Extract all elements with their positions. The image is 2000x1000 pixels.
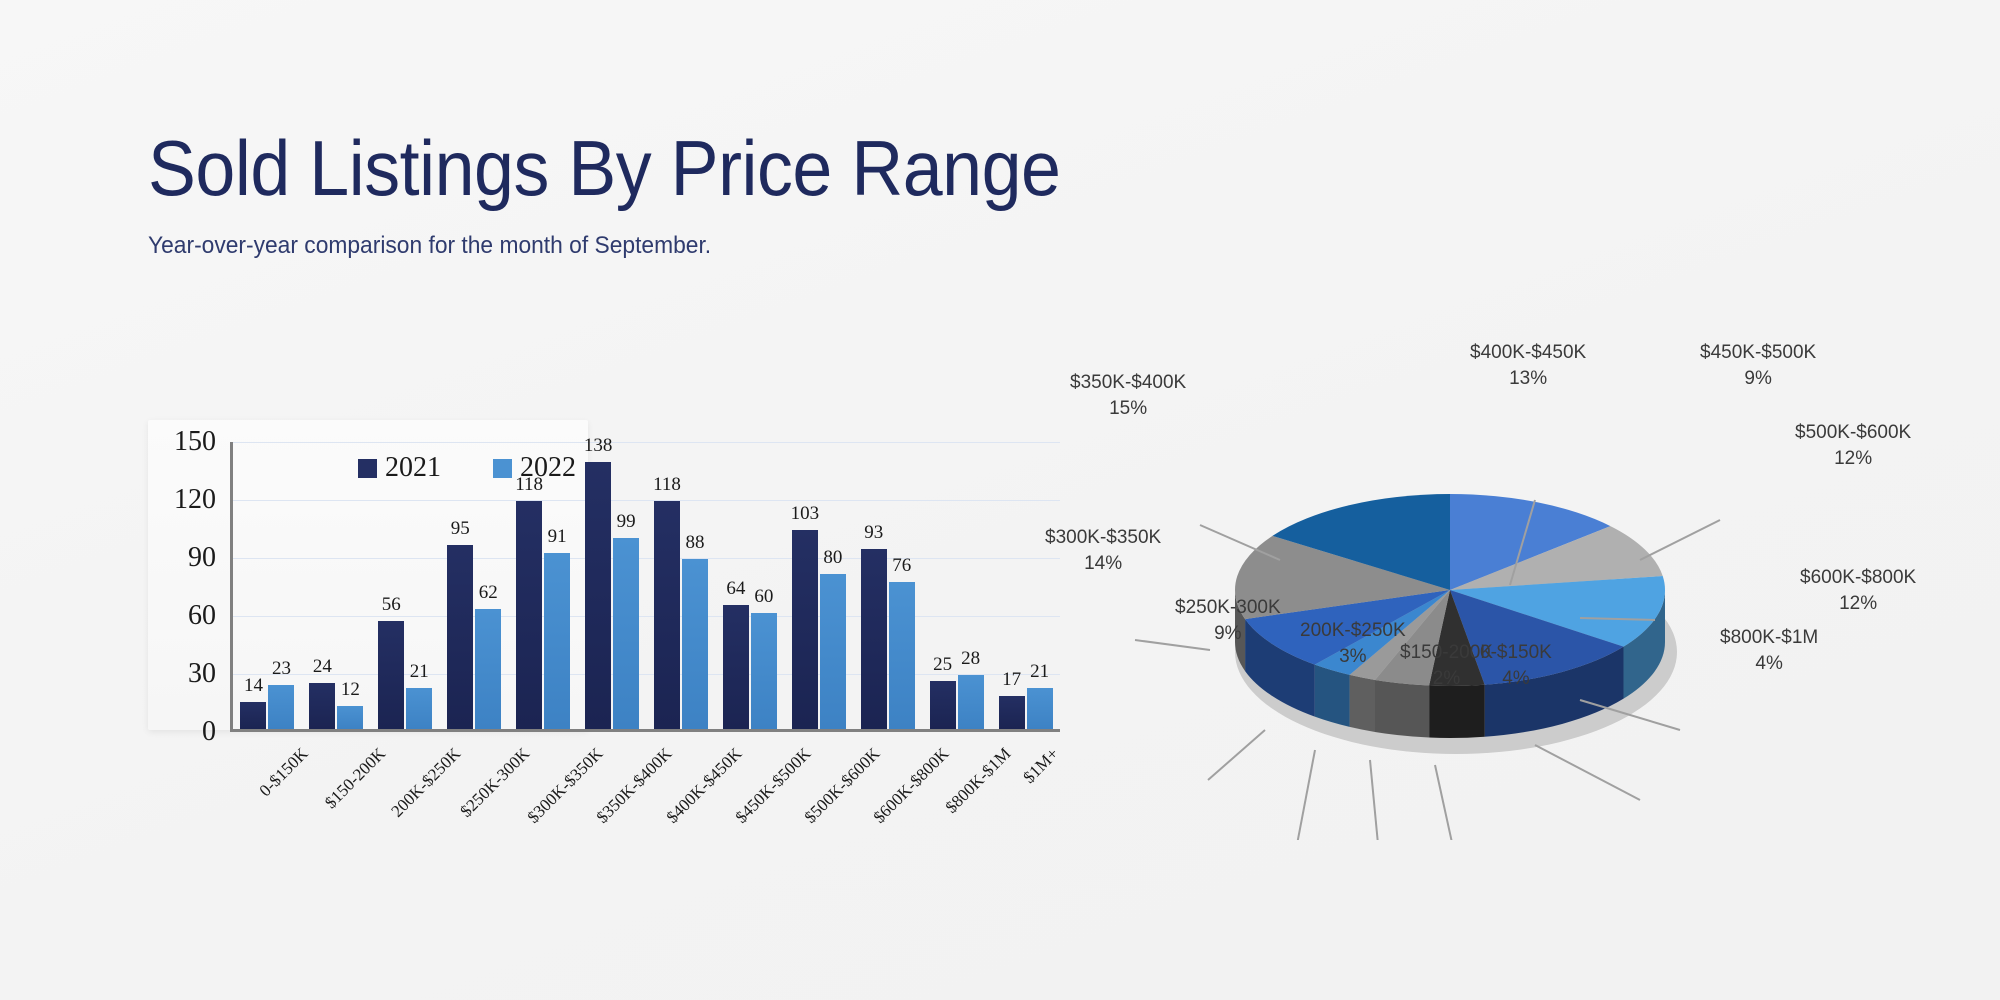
bar-groups: 1423241256219562118911389911888646010380… [233,442,1060,729]
pie-slice-label-name: $450K-$500K [1700,342,1816,363]
bar-2022[interactable]: 28 [958,675,984,729]
bar-group: 9562 [440,442,509,729]
x-axis-label-cell: $600K-$800K [856,738,925,848]
x-axis-label-cell: $1M+ [994,738,1063,848]
pie-leader-line [1370,760,1380,840]
bar-value-label: 64 [726,578,745,600]
bar-2022[interactable]: 80 [820,574,846,729]
y-axis-tick-label: 90 [188,542,216,574]
y-axis-tick-label: 120 [174,484,216,516]
bar-2021[interactable]: 25 [930,681,956,729]
pie-slice-label-percent: 4% [1720,651,1818,677]
pie-slice-label-percent: 15% [1070,396,1186,422]
pie-slice-side [1315,665,1350,727]
pie-slice-label: $600K-$800K12% [1800,565,1916,616]
bar-2021[interactable]: 138 [585,462,611,729]
bar-value-label: 56 [382,594,401,616]
pie-slice-side [1350,675,1375,732]
bar-2021[interactable]: 14 [240,702,266,729]
legend-label-2021: 2021 [385,452,441,484]
bar-value-label: 14 [244,675,263,697]
header: Sold Listings By Price Range Year-over-y… [148,128,1140,260]
x-axis-label-cell: $800K-$1M [925,738,994,848]
bar-group: 6460 [715,442,784,729]
bar-2021[interactable]: 95 [447,545,473,729]
x-axis-labels: 0-$150K$150-200K200K-$250K$250K-300K$300… [233,738,1063,848]
pie-leader-line [1535,745,1640,800]
bar-group: 1423 [233,442,302,729]
bar-group: 13899 [578,442,647,729]
bar-group: 9376 [853,442,922,729]
pie-slice-label: $350K-$400K15% [1070,370,1186,421]
bar-2022[interactable]: 12 [337,706,363,729]
bar-chart: 2021 2022 0306090120150 1423241256219562… [148,420,1088,850]
x-axis-line [230,729,1060,732]
x-axis-label-cell: $450K-$500K [717,738,786,848]
pie-slice-label-percent: 2% [1400,666,1493,692]
page-subtitle: Year-over-year comparison for the month … [148,232,1090,260]
pie-slice-label-percent: 9% [1175,621,1281,647]
pie-slice-label-name: $150-200K [1400,642,1493,663]
bar-2022[interactable]: 76 [889,582,915,729]
legend-item-2022[interactable]: 2022 [493,452,576,484]
bar-value-label: 21 [1030,661,1049,683]
pie-slice-label-name: $400K-$450K [1470,342,1586,363]
bar-value-label: 28 [961,648,980,670]
bar-value-label: 93 [864,522,883,544]
x-axis-label-cell: $150-200K [302,738,371,848]
x-axis-label-cell: $400K-$450K [648,738,717,848]
pie-leader-line [1435,765,1458,840]
x-axis-label-cell: $500K-$600K [786,738,855,848]
bar-value-label: 17 [1002,669,1021,691]
bar-value-label: 103 [791,503,820,525]
bar-value-label: 91 [548,526,567,548]
bar-2022[interactable]: 91 [544,553,570,729]
bar-2021[interactable]: 24 [309,683,335,729]
bar-value-label: 88 [685,532,704,554]
bar-value-label: 95 [451,518,470,540]
page-title: Sold Listings By Price Range [148,128,1061,208]
pie-slice-label-percent: 9% [1700,366,1816,392]
pie-chart: $400K-$450K13%$450K-$500K9%$500K-$600K12… [1080,400,1940,840]
bar-value-label: 24 [313,656,332,678]
bar-value-label: 118 [653,474,681,496]
bar-value-label: 21 [410,661,429,683]
pie-slice-label-name: $800K-$1M [1720,627,1818,648]
pie-slice-label: $300K-$350K14% [1045,525,1161,576]
bar-2022[interactable]: 60 [751,613,777,729]
y-axis-tick-label: 30 [188,658,216,690]
bar-value-label: 12 [341,679,360,701]
pie-leader-line [1640,520,1720,560]
pie-leader-line [1208,730,1265,780]
dashboard-canvas: Sold Listings By Price Range Year-over-y… [0,0,2000,1000]
bar-2021[interactable]: 93 [861,549,887,729]
pie-slice-label-percent: 14% [1045,551,1161,577]
x-axis-label-cell: 200K-$250K [371,738,440,848]
pie-slice-label-percent: 3% [1300,644,1406,670]
bar-2021[interactable]: 56 [378,621,404,729]
bar-2021[interactable]: 64 [723,605,749,729]
pie-slice-side [1429,685,1485,738]
bar-group: 2412 [302,442,371,729]
pie-slice-label-name: $300K-$350K [1045,527,1161,548]
bar-2021[interactable]: 118 [516,501,542,729]
x-axis-label-cell: $250K-300K [441,738,510,848]
pie-slice-label-percent: 12% [1800,591,1916,617]
bar-2022[interactable]: 21 [1027,688,1053,729]
pie-slice-label-name: 200K-$250K [1300,620,1406,641]
bar-plot-area: 0306090120150 14232412562195621189113899… [230,442,1060,732]
x-axis-label: $1M+ [1020,744,1064,788]
bar-2022[interactable]: 88 [682,559,708,729]
bar-value-label: 60 [754,586,773,608]
pie-slice-label-percent: 12% [1795,446,1911,472]
bar-chart-legend: 2021 2022 [358,452,576,484]
pie-slice-label: $250K-300K9% [1175,595,1281,646]
bar-group: 1721 [991,442,1060,729]
bar-2021[interactable]: 17 [999,696,1025,729]
bar-group: 10380 [784,442,853,729]
pie-slice-label-name: $500K-$600K [1795,422,1911,443]
bar-2022[interactable]: 21 [406,688,432,729]
bar-value-label: 23 [272,658,291,680]
pie-slice-label: $150-200K2% [1400,640,1493,691]
legend-swatch-icon [493,459,512,478]
pie-slice-label: 200K-$250K3% [1300,618,1406,669]
y-axis-tick-label: 60 [188,600,216,632]
legend-label-2022: 2022 [520,452,576,484]
pie-slice-label: $800K-$1M4% [1720,625,1818,676]
pie-slice-label: $400K-$450K13% [1470,340,1586,391]
bar-value-label: 99 [617,511,636,533]
pie-leader-line [1295,750,1315,840]
legend-item-2021[interactable]: 2021 [358,452,441,484]
x-axis-label-cell: $350K-$400K [579,738,648,848]
pie-slice-label-name: $250K-300K [1175,597,1281,618]
bar-2022[interactable]: 99 [613,538,639,729]
bar-value-label: 80 [823,547,842,569]
y-axis-tick-label: 0 [202,716,216,748]
bar-group: 2528 [922,442,991,729]
bar-group: 11891 [509,442,578,729]
pie-slice-label: $500K-$600K12% [1795,420,1911,471]
bar-2021[interactable]: 103 [792,530,818,729]
bar-value-label: 62 [479,582,498,604]
pie-slice-label: $450K-$500K9% [1700,340,1816,391]
bar-group: 5621 [371,442,440,729]
x-axis-label-cell: $300K-$350K [510,738,579,848]
pie-slice-label-name: $350K-$400K [1070,372,1186,393]
bar-2022[interactable]: 23 [268,685,294,729]
bar-value-label: 76 [892,555,911,577]
bar-2022[interactable]: 62 [475,609,501,729]
pie-slice-label-percent: 13% [1470,366,1586,392]
bar-value-label: 138 [584,435,613,457]
legend-swatch-icon [358,459,377,478]
bar-2021[interactable]: 118 [654,501,680,729]
pie-slice-label-name: $600K-$800K [1800,567,1916,588]
bar-value-label: 25 [933,654,952,676]
y-axis-tick-label: 150 [174,426,216,458]
x-axis-label-cell: 0-$150K [233,738,302,848]
bar-group: 11888 [647,442,716,729]
